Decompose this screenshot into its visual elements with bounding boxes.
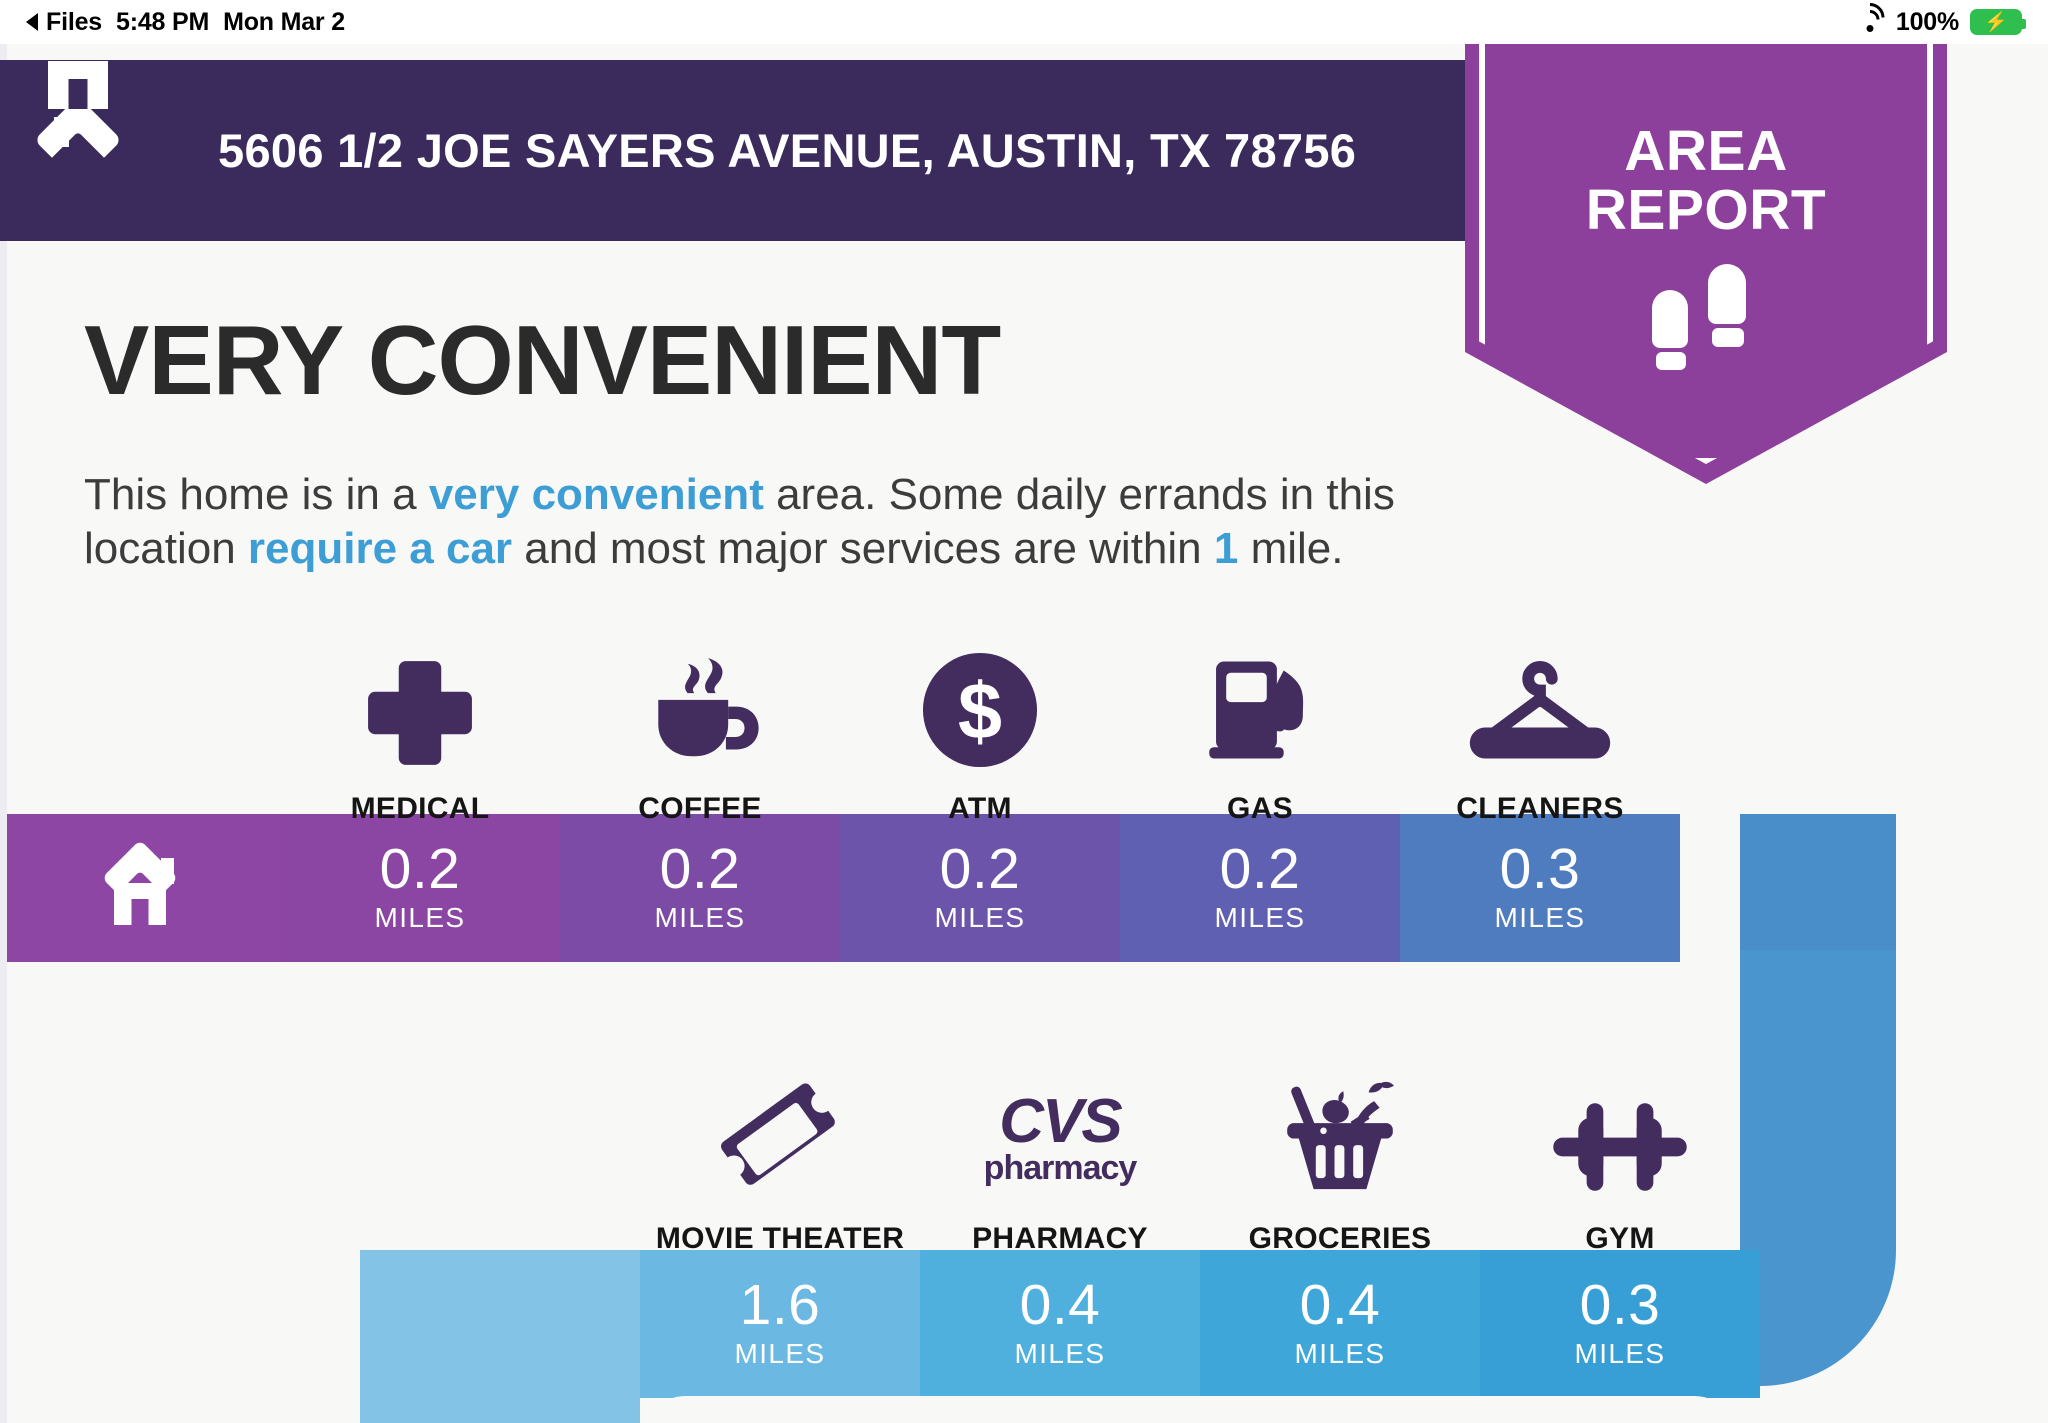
badge-label: AREA REPORT: [1465, 122, 1947, 241]
cvs-brand-text: CVS: [984, 1091, 1137, 1153]
amenity-label: MEDICAL: [351, 792, 490, 826]
coat-hanger-icon: [1465, 644, 1615, 772]
clock-label: 5:48 PM: [116, 8, 209, 37]
amenity-label: CLEANERS: [1456, 792, 1623, 826]
paragraph-text: This home is in a: [84, 470, 429, 519]
amenity-coffee[interactable]: COFFEE: [560, 644, 840, 826]
paragraph-highlight: require a car: [248, 524, 512, 573]
distance-row-2: 1.6 MILES 0.4 MILES 0.4 MILES 0.3 MILES: [360, 1250, 1760, 1398]
badge-inner-border: [1479, 44, 1933, 464]
date-label: Mon Mar 2: [223, 8, 345, 37]
distance-unit: MILES: [734, 1338, 825, 1370]
amenity-label: GYM: [1585, 1222, 1654, 1256]
amenity-label: PHARMACY: [972, 1222, 1148, 1256]
amenity-icon-row-2: MOVIE THEATER CVS pharmacy PHARMACY: [640, 1074, 1760, 1256]
distance-segment-gym: 0.3 MILES: [1480, 1250, 1760, 1398]
amenity-groceries[interactable]: GROCERIES: [1200, 1074, 1480, 1256]
amenity-label: GAS: [1227, 792, 1293, 826]
property-address: 5606 1/2 JOE SAYERS AVENUE, AUSTIN, TX 7…: [218, 123, 1356, 178]
amenity-label: MOVIE THEATER: [656, 1222, 904, 1256]
movie-ticket-icon: [715, 1074, 845, 1202]
grocery-basket-icon: [1274, 1074, 1406, 1202]
dollar-circle-icon: $: [918, 644, 1042, 772]
medical-cross-icon: [361, 644, 479, 772]
ribbon-lead-segment: [360, 1250, 640, 1398]
amenity-gym[interactable]: GYM: [1480, 1074, 1760, 1256]
distance-unit: MILES: [1014, 1338, 1105, 1370]
svg-text:$: $: [958, 667, 1002, 756]
gas-pump-icon: [1198, 644, 1322, 772]
address-header: 5606 1/2 JOE SAYERS AVENUE, AUSTIN, TX 7…: [0, 60, 1489, 241]
wifi-icon: [1855, 11, 1885, 33]
badge-line-1: AREA: [1465, 122, 1947, 181]
footprints-icon: [1646, 262, 1766, 372]
amenity-gas[interactable]: GAS: [1120, 644, 1400, 826]
amenity-label: GROCERIES: [1249, 1222, 1432, 1256]
distance-value: 0.4: [1020, 1278, 1101, 1334]
back-arrow-icon: [26, 13, 38, 31]
amenity-movie-theater[interactable]: MOVIE THEATER: [640, 1074, 920, 1256]
distance-value: 0.4: [1300, 1278, 1381, 1334]
cvs-pharmacy-icon: CVS pharmacy: [984, 1074, 1137, 1202]
distance-value: 1.6: [740, 1278, 821, 1334]
amenity-pharmacy[interactable]: CVS pharmacy PHARMACY: [920, 1074, 1200, 1256]
badge-line-2: REPORT: [1465, 181, 1947, 240]
battery-percent-label: 100%: [1896, 8, 1959, 37]
back-to-files-button[interactable]: Files: [26, 8, 102, 37]
dumbbell-icon: [1547, 1074, 1693, 1202]
distance-segment-movie-theater: 1.6 MILES: [640, 1250, 920, 1398]
coffee-cup-icon: [638, 644, 762, 772]
summary-paragraph: This home is in a very convenient area. …: [84, 468, 1444, 575]
amenity-cleaners[interactable]: CLEANERS: [1400, 644, 1680, 826]
area-report-badge: AREA REPORT: [1465, 44, 1947, 484]
amenity-atm[interactable]: $ ATM: [840, 644, 1120, 826]
amenity-medical[interactable]: MEDICAL: [280, 644, 560, 826]
status-bar-right: 100% ⚡: [1855, 8, 2022, 37]
back-app-label: Files: [46, 8, 102, 37]
distance-unit: MILES: [1294, 1338, 1385, 1370]
paragraph-text: mile.: [1238, 524, 1343, 573]
amenity-label: ATM: [948, 792, 1012, 826]
home-icon: [78, 109, 174, 193]
amenity-icon-row-1: MEDICAL COFFEE $ ATM: [280, 644, 1680, 826]
paragraph-highlight: very convenient: [429, 470, 764, 519]
distance-unit: MILES: [1574, 1338, 1665, 1370]
page-title: VERY CONVENIENT: [84, 304, 1000, 417]
distance-segment-groceries: 0.4 MILES: [1200, 1250, 1480, 1398]
distance-segment-pharmacy: 0.4 MILES: [920, 1250, 1200, 1398]
status-bar-left: Files 5:48 PM Mon Mar 2: [26, 8, 345, 37]
bolt-glyph: ⚡: [1984, 13, 2008, 32]
cvs-sub-text: pharmacy: [984, 1151, 1137, 1185]
battery-charging-icon: ⚡: [1970, 9, 2022, 35]
distance-value: 0.3: [1580, 1278, 1661, 1334]
paragraph-text: and most major services are within: [512, 524, 1214, 573]
status-bar: Files 5:48 PM Mon Mar 2 100% ⚡: [0, 0, 2048, 44]
ribbon-bottom-notch: [640, 1396, 1740, 1423]
area-report-page: 0.2 MILES 0.2 MILES 0.2 MILES 0.2 MILES …: [0, 44, 2048, 1423]
amenity-label: COFFEE: [638, 792, 761, 826]
paragraph-highlight: 1: [1214, 524, 1238, 573]
